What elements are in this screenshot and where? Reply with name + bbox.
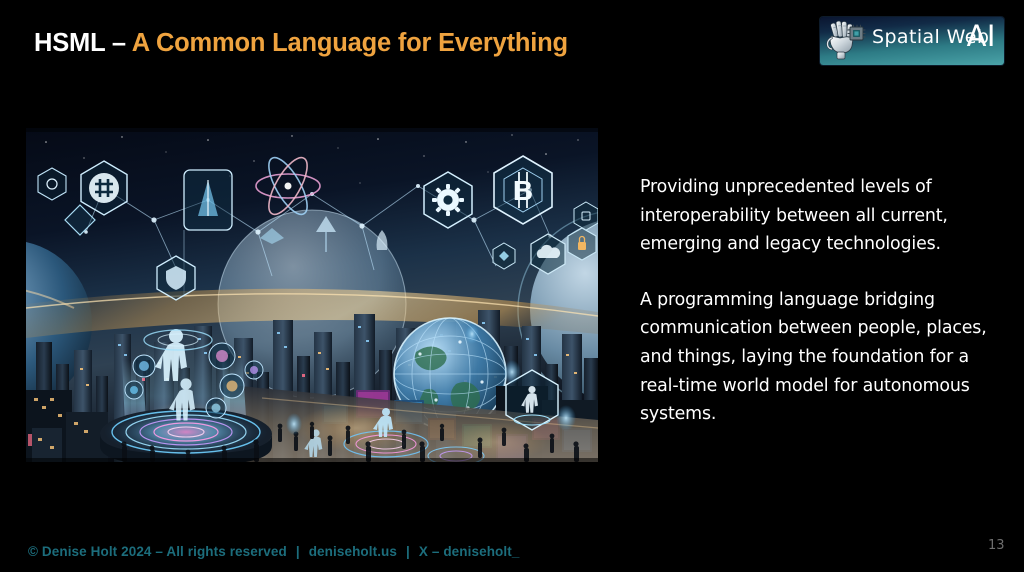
slide: HSML – A Common Language for Everything xyxy=(0,0,1024,572)
microchip-icon xyxy=(848,25,866,40)
footer-separator-1: | xyxy=(287,544,309,559)
page-title: HSML – A Common Language for Everything xyxy=(34,29,568,58)
logo-ai-text: AI xyxy=(967,19,996,53)
footer-website[interactable]: deniseholt.us xyxy=(309,544,397,559)
page-title-accent: A Common Language for Everything xyxy=(132,29,568,57)
robotic-hand-icon xyxy=(824,18,870,64)
page-number: 13 xyxy=(988,538,1005,553)
hero-image: B xyxy=(26,128,598,462)
futuristic-city-illustration: B xyxy=(26,128,598,462)
svg-text:B: B xyxy=(513,175,533,206)
body-text: Providing unprecedented levels of intero… xyxy=(640,173,990,429)
footer-copyright: © Denise Holt 2024 – All rights reserved xyxy=(28,544,287,559)
footer-social[interactable]: X – deniseholt_ xyxy=(419,544,520,559)
body-paragraph-2: A programming language bridging communic… xyxy=(640,286,990,429)
body-paragraph-1: Providing unprecedented levels of intero… xyxy=(640,173,990,259)
footer-separator-2: | xyxy=(397,544,419,559)
spatial-web-ai-logo[interactable]: Spatial Web AI xyxy=(820,17,1004,65)
footer: © Denise Holt 2024 – All rights reserved… xyxy=(28,544,519,559)
page-title-main: HSML – xyxy=(34,29,132,57)
